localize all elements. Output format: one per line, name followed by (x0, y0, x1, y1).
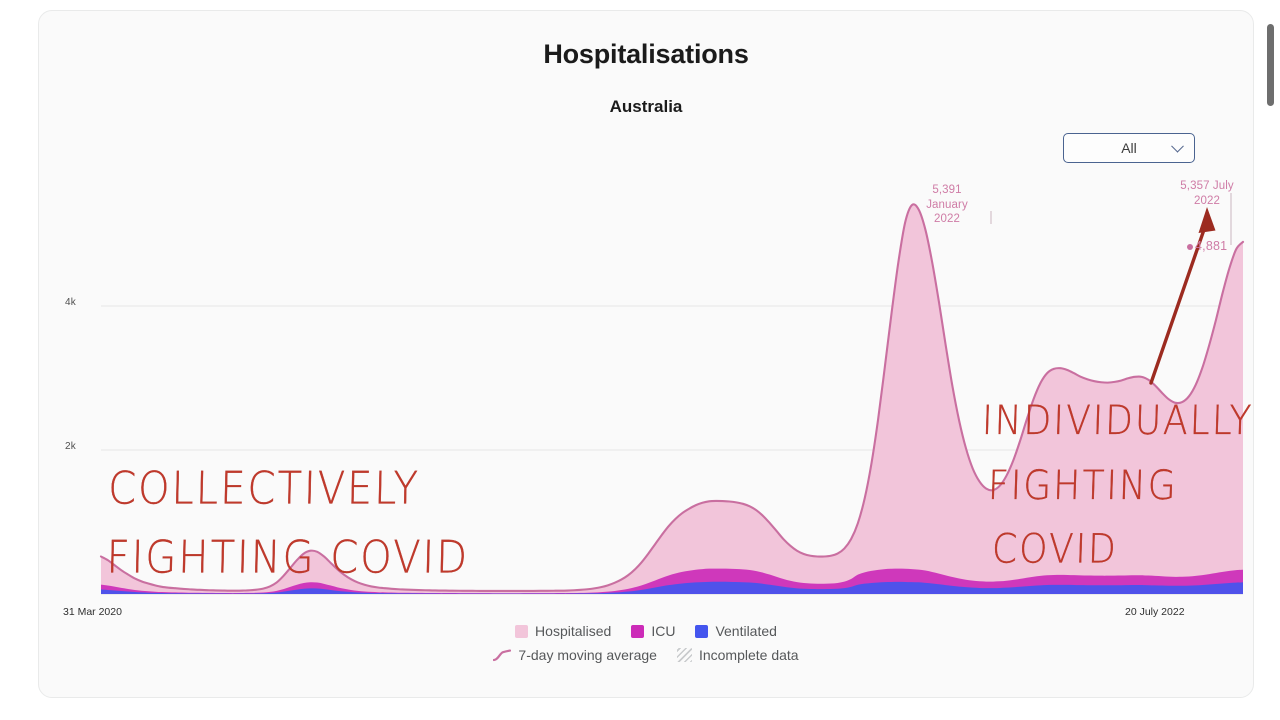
page-title: Hospitalisations (39, 39, 1253, 70)
chart-card: Hospitalisations Australia All (38, 10, 1254, 698)
callout-january-line1: 5,391 (887, 183, 1007, 198)
legend-swatch-hospitalised (515, 625, 528, 638)
legend-item-moving-average[interactable]: 7-day moving average (493, 647, 657, 663)
hw-left-line2: FIGHTING COVID (106, 532, 470, 584)
legend-label-icu: ICU (651, 623, 675, 639)
legend-row-meta: 7-day moving average Incomplete data (493, 647, 798, 663)
x-axis-start-label: 31 Mar 2020 (63, 606, 122, 618)
legend-item-ventilated[interactable]: Ventilated (695, 623, 777, 639)
hw-right-line1: INDIVIDUALLY (981, 398, 1254, 444)
callout-july-line2: 2022 (1147, 194, 1254, 209)
hw-left-line1: COLLECTIVELY (108, 463, 421, 515)
callout-july-line1: 5,357 July (1147, 179, 1254, 194)
callout-january-line3: 2022 (887, 212, 1007, 227)
scrollbar-thumb[interactable] (1267, 24, 1274, 106)
x-axis-end-label: 20 July 2022 (1125, 606, 1185, 618)
y-axis-tick-4k: 4k (65, 297, 76, 308)
handwritten-annotation-left: COLLECTIVELY FIGHTING COVID (106, 454, 472, 593)
legend-label-incomplete-data: Incomplete data (699, 647, 799, 663)
chart-legend: Hospitalised ICU Ventilated 7-day moving… (39, 623, 1253, 663)
handwritten-annotation-right: INDIVIDUALLYFIGHTINGCOVID (977, 389, 1254, 583)
legend-label-ventilated: Ventilated (715, 623, 777, 639)
latest-point-marker (1187, 244, 1193, 250)
callout-january-peak: 5,391 January 2022 (887, 183, 1007, 227)
vertical-scrollbar[interactable] (1264, 0, 1278, 720)
legend-label-moving-average: 7-day moving average (518, 647, 657, 663)
page-root: Hospitalisations Australia All (0, 0, 1280, 720)
callout-july-peak: 5,357 July 2022 (1147, 179, 1254, 208)
y-axis-tick-2k: 2k (65, 441, 76, 452)
legend-swatch-ventilated (695, 625, 708, 638)
legend-item-hospitalised[interactable]: Hospitalised (515, 623, 611, 639)
legend-swatch-icu (631, 625, 644, 638)
legend-item-incomplete-data[interactable]: Incomplete data (677, 647, 799, 663)
latest-point-label: 4,881 (1195, 239, 1227, 253)
chart-subtitle: Australia (39, 97, 1253, 117)
hatch-pattern-icon (677, 648, 692, 662)
moving-average-line-icon (493, 649, 511, 662)
legend-item-icu[interactable]: ICU (631, 623, 675, 639)
hw-right-line2: FIGHTING (987, 454, 1252, 519)
legend-row-series: Hospitalised ICU Ventilated (515, 623, 777, 639)
hw-right-line3: COVID (991, 518, 1250, 583)
callout-january-line2: January (887, 198, 1007, 213)
legend-label-hospitalised: Hospitalised (535, 623, 611, 639)
